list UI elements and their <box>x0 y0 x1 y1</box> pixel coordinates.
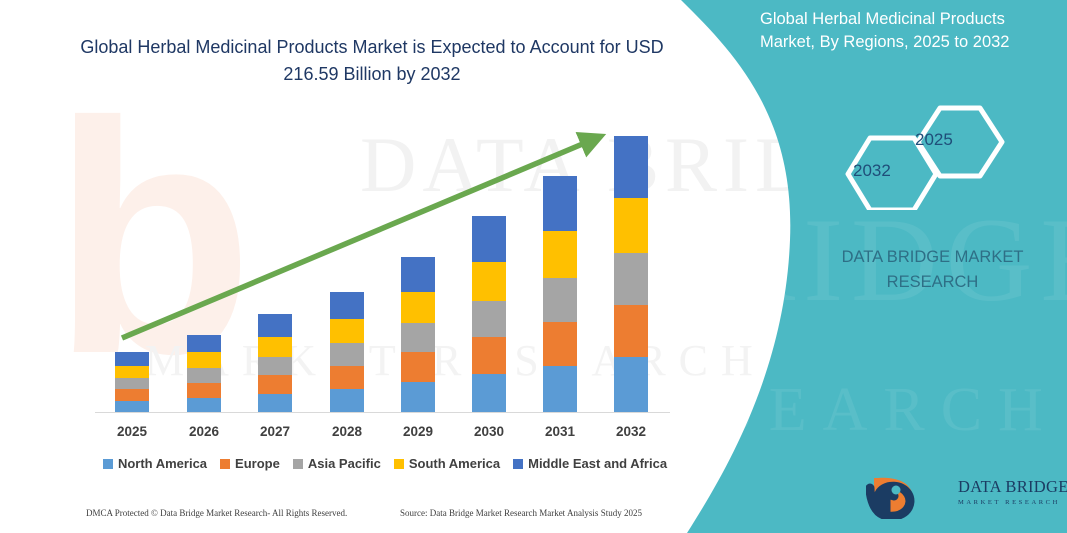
side-panel-content: Global Herbal Medicinal Products Market,… <box>0 0 1067 533</box>
side-panel-brand: DATA BRIDGE MARKET RESEARCH <box>800 245 1065 295</box>
infographic-root: b DATA BRIDGE MARKET RESEARCH Global Her… <box>0 0 1067 533</box>
side-panel-title: Global Herbal Medicinal Products Market,… <box>760 8 1055 54</box>
hexagon-label-2032: 2032 <box>853 161 891 181</box>
hexagon-label-2025: 2025 <box>915 130 953 150</box>
hexagon-pair <box>820 100 1050 210</box>
logo-main-text: DATA BRIDGE <box>958 477 1058 497</box>
data-bridge-logo-text: DATA BRIDGE MARKET RESEARCH <box>958 477 1058 506</box>
logo-sub-text: MARKET RESEARCH <box>958 499 1058 506</box>
